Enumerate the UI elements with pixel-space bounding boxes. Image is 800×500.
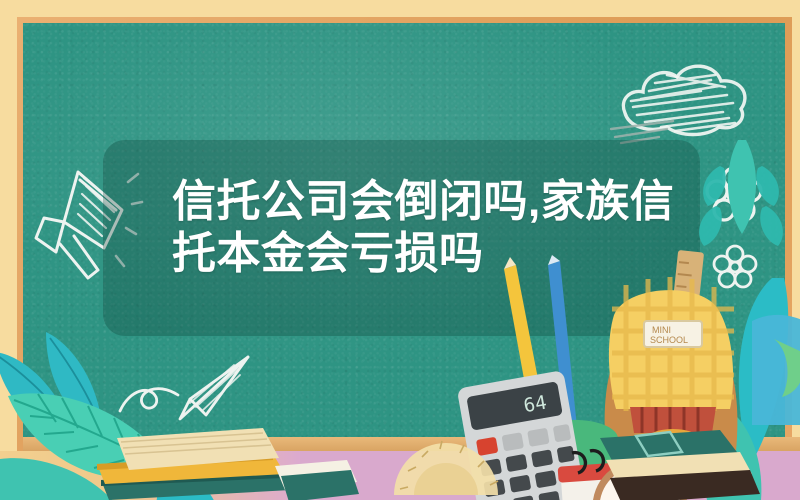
poster-canvas: 信托公司会倒闭吗,家族信托本金会亏损吗 [0,0,800,500]
books-icon [95,420,465,500]
books-icon [600,430,800,500]
svg-text:SCHOOL: SCHOOL [650,335,688,345]
svg-text:64: 64 [522,392,548,418]
backpack-icon: MINISCHOOL [605,277,738,453]
globe-icon [752,315,800,425]
svg-text:MINI: MINI [652,325,671,335]
